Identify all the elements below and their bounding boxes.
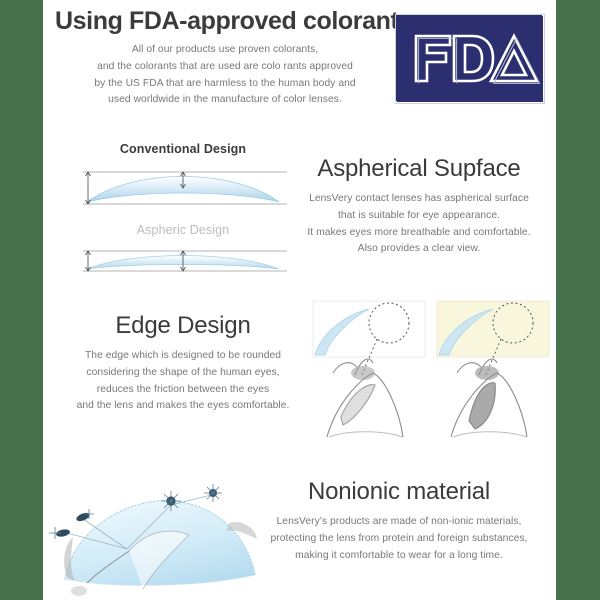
section-edge-design: Edge Design The edge which is designed t… bbox=[43, 293, 556, 453]
infographic-frame: Using FDA-approved colorants All of our … bbox=[0, 0, 600, 600]
aspherical-paragraph-line-3: It makes eyes more breathable and comfor… bbox=[283, 225, 555, 242]
aspherical-text-block: Aspherical Supface LensVery contact lens… bbox=[283, 156, 555, 258]
nonionic-title: Nonionic material bbox=[243, 479, 555, 505]
fda-text-block: Using FDA-approved colorants All of our … bbox=[55, 8, 395, 109]
section-aspherical-surface: Conventional Design bbox=[43, 128, 556, 293]
edge-paragraph-line-3: reduces the friction between the eyes bbox=[45, 382, 321, 399]
edge-title: Edge Design bbox=[45, 313, 321, 339]
aspherical-title: Aspherical Supface bbox=[283, 156, 555, 182]
edge-text-block: Edge Design The edge which is designed t… bbox=[45, 313, 321, 415]
edge-paragraph-line-4: and the lens and makes the eyes comforta… bbox=[45, 398, 321, 415]
letterbox-bar-left bbox=[0, 0, 43, 600]
section-fda-colorants: Using FDA-approved colorants All of our … bbox=[43, 0, 556, 128]
lens-cross-section-conventional bbox=[73, 160, 293, 216]
edge-figures bbox=[311, 297, 556, 449]
fda-paragraph: All of our products use proven colorants… bbox=[55, 42, 395, 109]
aspheric-design-label: Aspheric Design bbox=[83, 223, 283, 237]
conventional-design-label: Conventional Design bbox=[83, 142, 283, 156]
nonionic-paragraph-line-1: LensVery's products are made of non-ioni… bbox=[243, 514, 555, 531]
aspherical-paragraph: LensVery contact lenses has aspherical s… bbox=[283, 191, 555, 258]
nonionic-paragraph-line-2: protecting the lens from protein and for… bbox=[243, 531, 555, 548]
fda-paragraph-line-1: All of our products use proven colorants… bbox=[61, 42, 389, 59]
nonionic-paragraph: LensVery's products are made of non-ioni… bbox=[243, 514, 555, 564]
infographic-canvas: Using FDA-approved colorants All of our … bbox=[43, 0, 556, 600]
lens-cross-section-aspheric bbox=[73, 241, 293, 287]
aspherical-paragraph-line-1: LensVery contact lenses has aspherical s… bbox=[283, 191, 555, 208]
edge-paragraph-line-2: considering the shape of the human eyes, bbox=[45, 365, 321, 382]
edge-paragraph: The edge which is designed to be rounded… bbox=[45, 348, 321, 415]
fda-paragraph-line-3: by the US FDA that are harmless to the h… bbox=[61, 76, 389, 93]
fda-paragraph-line-4: used worldwide in the manufacture of col… bbox=[61, 92, 389, 109]
fda-logo bbox=[395, 14, 545, 104]
fda-title: Using FDA-approved colorants bbox=[55, 8, 395, 34]
section-nonionic-material: Nonionic material LensVery's products ar… bbox=[43, 453, 556, 600]
fda-paragraph-line-2: and the colorants that are used are colo… bbox=[61, 59, 389, 76]
aspherical-paragraph-line-4: Also provides a clear view. bbox=[283, 241, 555, 258]
aspherical-paragraph-line-2: that is suitable for eye appearance. bbox=[283, 208, 555, 225]
nonionic-paragraph-line-3: making it comfortable to wear for a long… bbox=[243, 548, 555, 565]
edge-figure-highlight bbox=[435, 297, 553, 449]
edge-figure-standard bbox=[311, 297, 429, 449]
edge-paragraph-line-1: The edge which is designed to be rounded bbox=[45, 348, 321, 365]
letterbox-bar-right bbox=[556, 0, 600, 600]
nonionic-text-block: Nonionic material LensVery's products ar… bbox=[243, 479, 555, 564]
